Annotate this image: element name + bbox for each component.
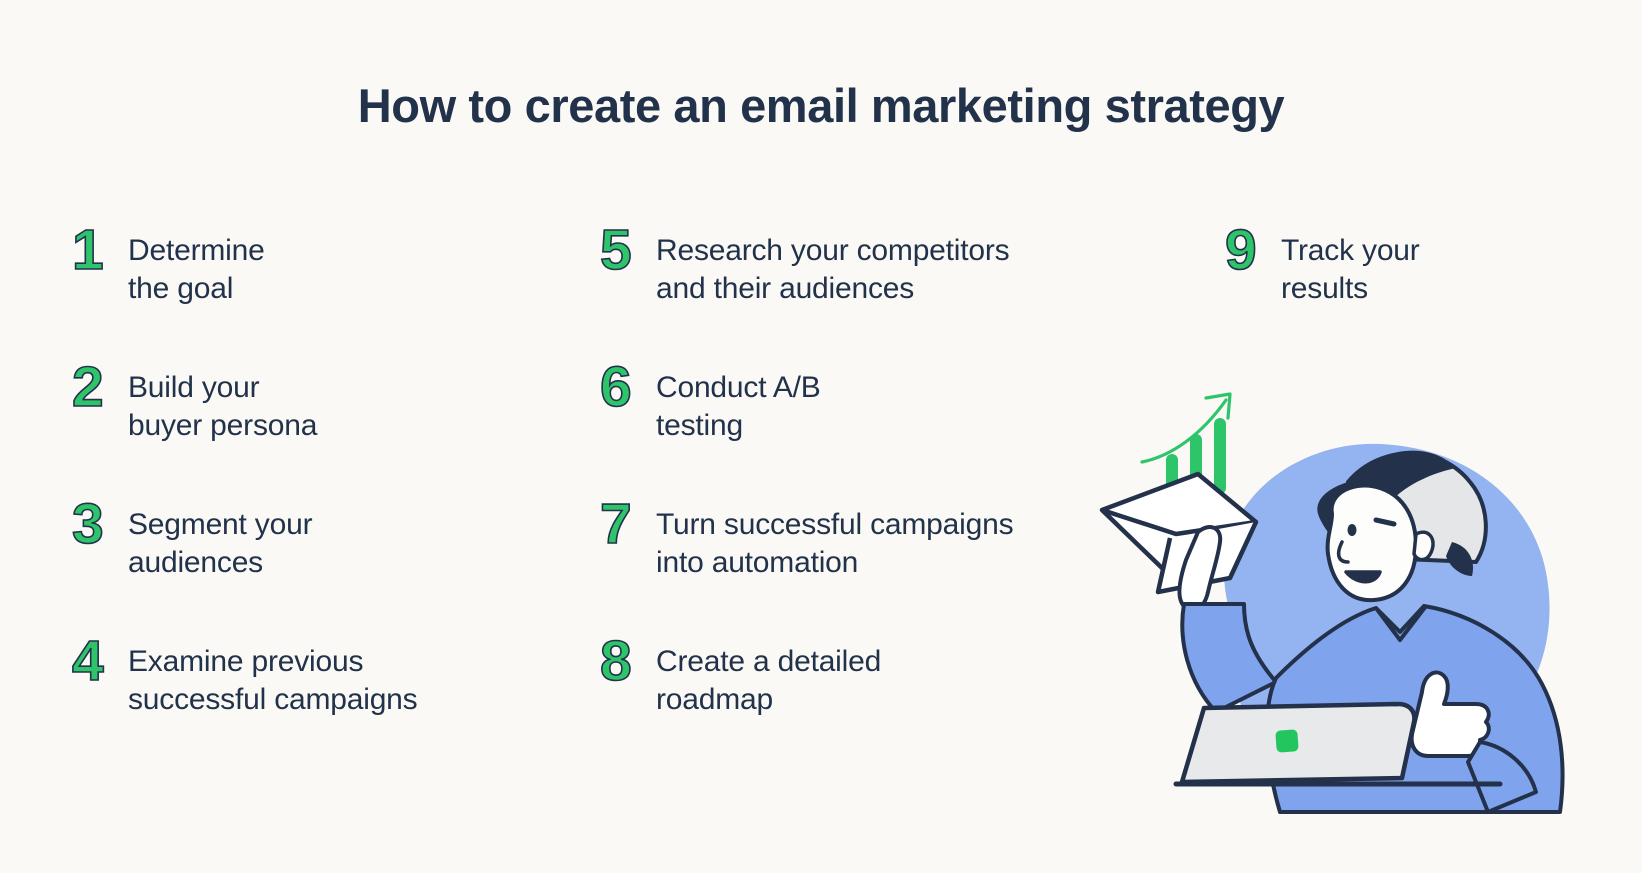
step-text-line: Track your	[1281, 232, 1525, 270]
laptop-logo	[1275, 729, 1298, 752]
steps-column-1: 1 Determine the goal 2 Build your buyer …	[72, 228, 542, 776]
step-text: Conduct A/B testing	[656, 365, 1120, 445]
step-number: 1	[72, 224, 128, 276]
step-text: Track your results	[1281, 228, 1525, 308]
step-item: 9 Track your results	[1225, 228, 1525, 308]
step-number: 8	[600, 635, 656, 687]
step-text: Build your buyer persona	[128, 365, 542, 445]
email-marketer-illustration	[1080, 382, 1580, 822]
infographic-canvas: How to create an email marketing strateg…	[0, 0, 1642, 873]
step-item: 7 Turn successful campaigns into automat…	[600, 502, 1120, 594]
step-number: 9	[1225, 224, 1281, 276]
step-text-line: audiences	[128, 544, 542, 582]
step-text: Determine the goal	[128, 228, 542, 308]
step-text-line: into automation	[656, 544, 1120, 582]
envelope	[1102, 474, 1256, 592]
step-text: Segment your audiences	[128, 502, 542, 582]
step-number: 3	[72, 498, 128, 550]
step-item: 3 Segment your audiences	[72, 502, 542, 594]
step-text-line: testing	[656, 407, 1120, 445]
steps-column-2: 5 Research your competitors and their au…	[600, 228, 1120, 776]
step-item: 8 Create a detailed roadmap	[600, 639, 1120, 731]
step-text-line: Build your	[128, 369, 542, 407]
page-title: How to create an email marketing strateg…	[0, 78, 1642, 133]
step-text-line: successful campaigns	[128, 681, 542, 719]
step-text-line: Segment your	[128, 506, 542, 544]
step-text-line: results	[1281, 270, 1525, 308]
step-text-line: Examine previous	[128, 643, 542, 681]
step-text-line: and their audiences	[656, 270, 1120, 308]
steps-column-3: 9 Track your results	[1225, 228, 1525, 354]
step-item: 1 Determine the goal	[72, 228, 542, 320]
step-text-line: Determine	[128, 232, 542, 270]
step-number: 4	[72, 635, 128, 687]
step-text: Turn successful campaigns into automatio…	[656, 502, 1120, 582]
step-number: 7	[600, 498, 656, 550]
step-text: Create a detailed roadmap	[656, 639, 1120, 719]
step-text-line: the goal	[128, 270, 542, 308]
step-text-line: Turn successful campaigns	[656, 506, 1120, 544]
step-item: 5 Research your competitors and their au…	[600, 228, 1120, 320]
step-item: 2 Build your buyer persona	[72, 365, 542, 457]
eye	[1348, 524, 1357, 536]
step-text-line: Conduct A/B	[656, 369, 1120, 407]
step-number: 2	[72, 361, 128, 413]
step-item: 4 Examine previous successful campaigns	[72, 639, 542, 731]
step-text-line: roadmap	[656, 681, 1120, 719]
step-text-line: Research your competitors	[656, 232, 1120, 270]
step-text-line: Create a detailed	[656, 643, 1120, 681]
step-number: 6	[600, 361, 656, 413]
laptop	[1182, 704, 1414, 782]
step-text: Examine previous successful campaigns	[128, 639, 542, 719]
step-number: 5	[600, 224, 656, 276]
step-text: Research your competitors and their audi…	[656, 228, 1120, 308]
step-item: 6 Conduct A/B testing	[600, 365, 1120, 457]
step-text-line: buyer persona	[128, 407, 542, 445]
